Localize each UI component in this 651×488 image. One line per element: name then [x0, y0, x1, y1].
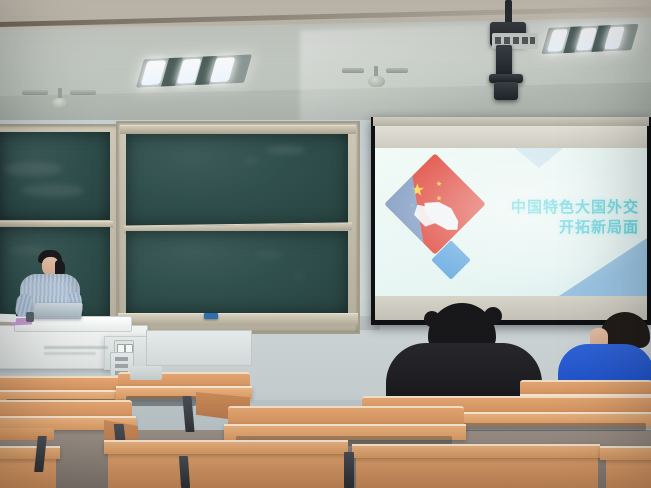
podium-label-line: [44, 346, 108, 349]
slide-title-line1: 中国特色大国外交: [511, 196, 639, 217]
ceiling-fan-right: [358, 66, 394, 90]
fan-blade: [22, 90, 48, 95]
chalk-tray: [118, 313, 358, 325]
slide-top-accent: [515, 148, 563, 168]
chair-back[interactable]: [130, 366, 162, 380]
ceiling-fan-left: [40, 88, 80, 114]
desk-surface-front: [104, 440, 348, 454]
screen-top-mask: [375, 126, 647, 148]
desk-surface-front: [0, 446, 60, 459]
blackboard-eraser[interactable]: [204, 313, 218, 319]
fluorescent-light-panel-right: [541, 24, 638, 54]
front-cabinet: [146, 330, 252, 366]
projector-stem: [496, 45, 512, 77]
podium-mic[interactable]: [26, 312, 34, 322]
projector-lens-housing: [494, 82, 518, 100]
classroom-scene: ★ ★ ★ ★ ★ 中国特色大国外交 开拓新局面 ············· ·…: [0, 0, 651, 488]
flag-star-small: ★: [436, 181, 442, 188]
slide-subtitle: ············· ············· ······: [502, 240, 637, 246]
projection-screen: ★ ★ ★ ★ ★ 中国特色大国外交 开拓新局面 ············· ·…: [371, 117, 651, 325]
fan-motor: [52, 98, 69, 109]
fan-blade: [386, 68, 408, 73]
podium-laptop[interactable]: [33, 303, 83, 319]
slide-corner-accent: [559, 238, 647, 296]
fan-blade: [70, 90, 96, 95]
slide-title-line2: 开拓新局面: [559, 216, 639, 237]
blackboard-main: [116, 121, 360, 334]
fan-motor: [368, 76, 385, 87]
projected-slide: ★ ★ ★ ★ ★ 中国特色大国外交 开拓新局面 ············· ·…: [375, 148, 647, 296]
slide-flag-diamond: ★ ★ ★ ★ ★: [384, 153, 486, 255]
fluorescent-light-panel-left: [136, 54, 252, 87]
fan-blade: [342, 68, 364, 73]
blackboard-main-lower-panel: [126, 231, 348, 314]
blackboard-left-upper-panel: [0, 132, 110, 220]
screen-roller-housing: [373, 117, 649, 126]
ceiling: [0, 0, 651, 128]
podium-papers-white[interactable]: [0, 314, 16, 323]
flag-star-small: ★: [436, 195, 442, 202]
blackboard-main-upper-panel: [126, 134, 348, 226]
desk-surface-front: [600, 446, 651, 460]
desk-leg: [344, 452, 354, 488]
podium-label-line: [44, 352, 96, 355]
blackboard-top-rail: [120, 125, 356, 134]
desk-surface-front: [352, 444, 600, 458]
